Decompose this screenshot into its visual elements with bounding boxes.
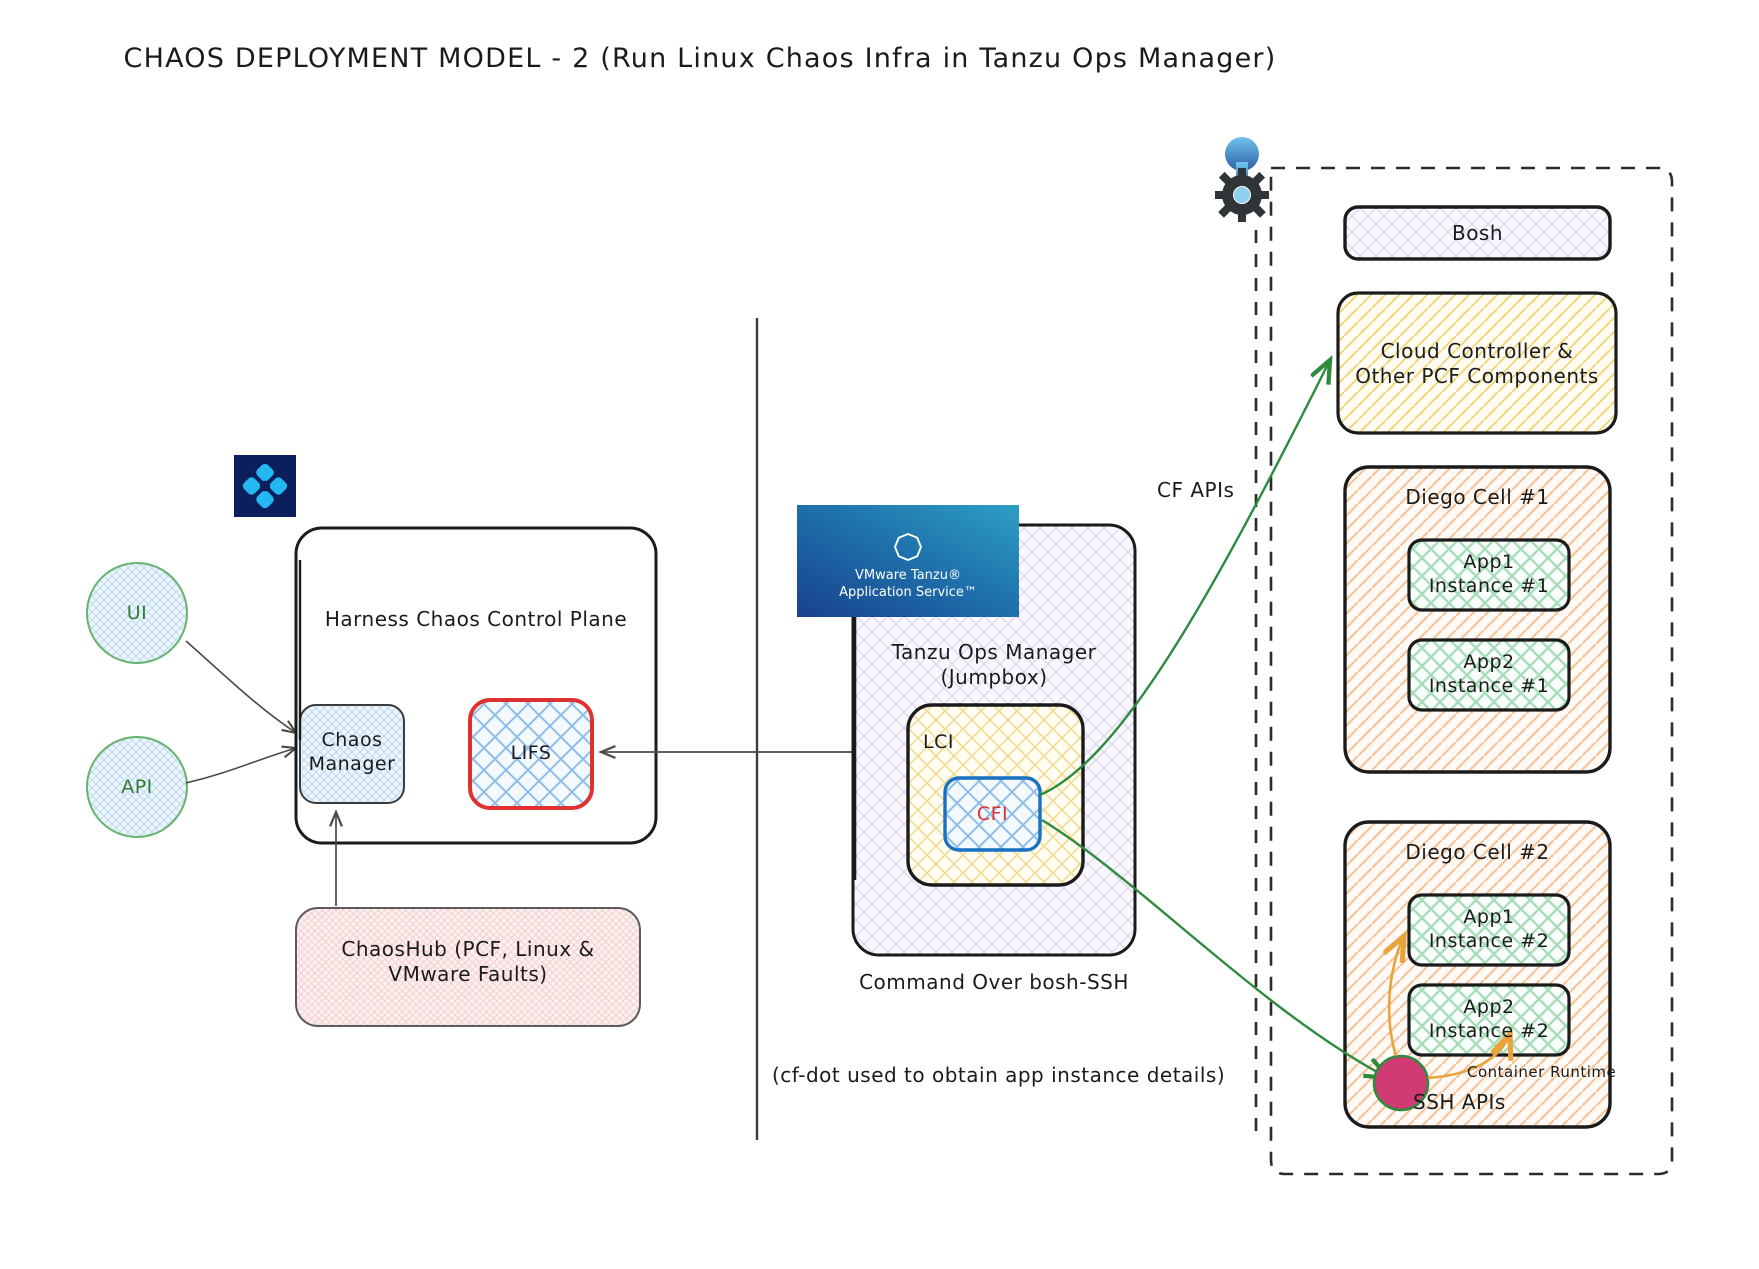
vmware-tanzu-logo-line2: Application Service™ [797, 585, 1019, 602]
diego-cell-1-box [1345, 467, 1610, 772]
lifs-label: LIFS [470, 742, 592, 766]
cloud-foundry-logo-icon [1192, 128, 1292, 228]
chaoshub-label: ChaosHub (PCF, Linux & VMware Faults) [296, 937, 640, 987]
tanzu-ops-manager-label: Tanzu Ops Manager (Jumpbox) [853, 640, 1135, 690]
cloud-foundry-logo [1192, 128, 1292, 228]
cfdot-note: (cf-dot used to obtain app instance deta… [772, 1063, 1225, 1088]
diego-cell-1-label: Diego Cell #1 [1345, 485, 1610, 510]
ssh-apis-label: SSH APIs [1413, 1090, 1506, 1115]
harness-control-plane-label: Harness Chaos Control Plane [306, 607, 646, 632]
cloud-controller-label: Cloud Controller & Other PCF Components [1338, 339, 1616, 389]
edge-ui-to-chaos-manager [186, 641, 296, 733]
page-title: CHAOS DEPLOYMENT MODEL - 2 (Run Linux Ch… [0, 42, 1400, 76]
app1-instance1-label: App1 Instance #1 [1409, 551, 1569, 599]
bosh-ssh-note: Command Over bosh-SSH [838, 970, 1150, 995]
cfi-label: CFI [945, 803, 1040, 827]
container-runtime-label: Container Runtime [1467, 1063, 1616, 1082]
edge-api-to-chaos-manager [186, 748, 296, 783]
app1-instance2-label: App1 Instance #2 [1409, 906, 1569, 954]
cf-apis-edge-label: CF APIs [1157, 478, 1234, 503]
bosh-label: Bosh [1345, 221, 1610, 246]
ui-circle-label: UI [87, 602, 187, 626]
harness-logo [234, 455, 296, 517]
diego-cell-2-label: Diego Cell #2 [1345, 840, 1610, 865]
api-circle-label: API [87, 776, 187, 800]
lci-label: LCI [923, 731, 954, 755]
chaos-manager-label: Chaos Manager [300, 729, 404, 777]
app2-instance1-label: App2 Instance #1 [1409, 651, 1569, 699]
app2-instance2-label: App2 Instance #2 [1409, 996, 1569, 1044]
diagram-canvas: CHAOS DEPLOYMENT MODEL - 2 (Run Linux Ch… [0, 0, 1759, 1269]
vmware-tanzu-logo-line1: VMware Tanzu® [797, 568, 1019, 585]
harness-logo-icon [234, 455, 296, 517]
